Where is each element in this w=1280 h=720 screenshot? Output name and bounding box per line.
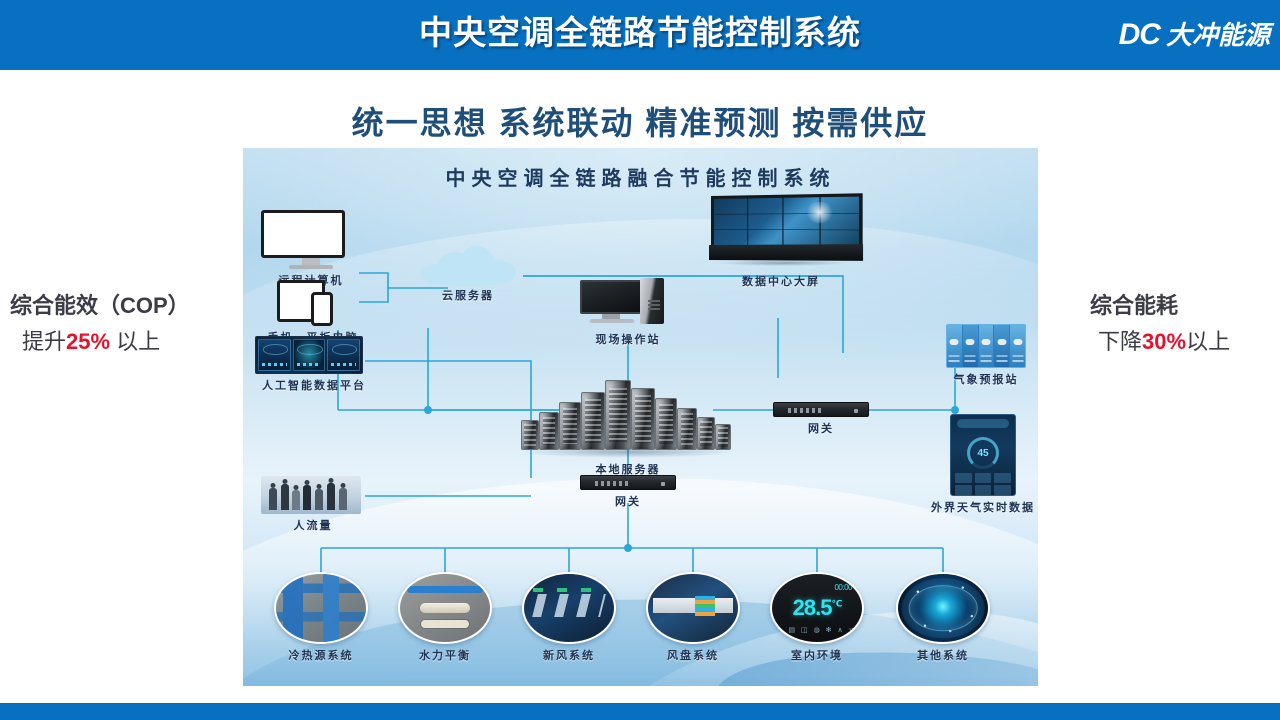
- node-label-field-workstation: 现场操作站: [580, 331, 676, 347]
- logo-mark: DC: [1119, 20, 1160, 50]
- weather-realtime-header: [957, 419, 1009, 428]
- video-wall-grid: [714, 197, 859, 248]
- forecast-day-3: [979, 325, 994, 367]
- monitor-neck: [302, 258, 320, 265]
- callout-cop-title: 综合能效（COP）: [10, 288, 190, 320]
- mobile-tablet-icon: [277, 280, 349, 326]
- forecast-day-2: [963, 325, 978, 367]
- brand-logo: DC 大冲能源: [1119, 14, 1270, 56]
- callout-cop: 综合能效（COP） 提升25% 以上: [10, 288, 190, 356]
- thermostat-temp-value: 28.5: [793, 595, 832, 620]
- node-weather-forecast-station: 气象预报站: [931, 324, 1038, 387]
- weather-realtime-row-2: [955, 485, 1011, 495]
- node-data-center-screen: 数据中心大屏: [705, 196, 857, 289]
- video-wall-glow: [804, 201, 833, 223]
- fan-coil-image: [646, 572, 740, 644]
- fresh-air-image: [522, 572, 616, 644]
- ai-panel-center: [293, 339, 326, 371]
- thermostat-temp-unit: ℃: [831, 599, 841, 609]
- ai-dashboard-icon: [255, 336, 363, 374]
- workstation-foot: [590, 319, 634, 323]
- video-wall-icon: [705, 196, 851, 270]
- forecast-day-1: [947, 325, 962, 367]
- subsystem-label-3: 风盘系统: [646, 647, 740, 663]
- callout-cop-value: 提升25% 以上: [10, 324, 190, 356]
- gateway-switch-icon-right: [773, 402, 869, 417]
- node-outdoor-weather-realtime: 45 外界天气实时数据: [903, 414, 1038, 515]
- node-label-weather-forecast-station: 气象预报站: [931, 371, 1038, 387]
- thermostat-temperature: 28.5℃: [793, 597, 842, 619]
- gateway-switch-icon-bottom: [580, 475, 676, 490]
- server-stack-icon: [513, 366, 743, 458]
- cloud-icon: [420, 244, 516, 284]
- subsystem-label-5: 其他系统: [896, 647, 990, 663]
- video-wall-shadow: [719, 260, 847, 266]
- monitor-icon: [261, 210, 345, 258]
- node-label-pedestrian-flow: 人流量: [261, 517, 365, 533]
- node-cloud-server: 云服务器: [403, 244, 533, 303]
- callout-energy-percent: 30%: [1142, 329, 1186, 354]
- node-pedestrian-flow: 人流量: [261, 476, 365, 533]
- subsystem-label-4: 室内环境: [770, 647, 864, 663]
- footer-bar: [0, 703, 1280, 720]
- thermostat-clock: 00:00: [834, 583, 852, 592]
- header-bar: 中央空调全链路节能控制系统 DC 大冲能源: [0, 0, 1280, 70]
- subsystem-cold-heat-source: 冷热源系统: [274, 572, 368, 663]
- subsystem-fresh-air: 新风系统: [522, 572, 616, 663]
- subtitle: 统一思想 系统联动 精准预测 按需供应: [0, 98, 1280, 144]
- forecast-day-5: [1010, 325, 1025, 367]
- thermostat-image: 00:00 28.5℃ ◔ ▤ ◫ ◍ ✻ ∧ ∨: [770, 572, 864, 644]
- subsystem-label-2: 新风系统: [522, 647, 616, 663]
- weather-realtime-icon: 45: [950, 414, 1016, 496]
- callout-energy-value: 下降30%以上: [1090, 324, 1230, 356]
- workstation-monitor: [580, 280, 642, 314]
- monitor-base: [289, 265, 333, 269]
- subsystem-indoor-environment: 00:00 28.5℃ ◔ ▤ ◫ ◍ ✻ ∧ ∨ 室内环境: [770, 572, 864, 663]
- node-label-data-center-screen: 数据中心大屏: [705, 273, 857, 289]
- subsystem-label-1: 水力平衡: [398, 647, 492, 663]
- node-label-gateway-right: 网关: [773, 420, 869, 436]
- video-wall-base: [709, 244, 863, 261]
- node-label-cloud-server: 云服务器: [403, 287, 533, 303]
- workstation-icon: [580, 278, 676, 328]
- node-label-gateway-bottom: 网关: [580, 493, 676, 509]
- video-wall-screen: [711, 193, 863, 251]
- ai-panel-right: [327, 339, 360, 371]
- slide-root: 中央空调全链路节能控制系统 DC 大冲能源 统一思想 系统联动 精准预测 按需供…: [0, 0, 1280, 720]
- forecast-day-4: [994, 325, 1009, 367]
- node-remote-computer: 远程计算机: [261, 210, 361, 288]
- weather-realtime-gauge: 45: [967, 437, 999, 469]
- subsystem-fan-coil: 风盘系统: [646, 572, 740, 663]
- logo-text: 大冲能源: [1166, 22, 1270, 48]
- callout-cop-prefix: 提升: [22, 329, 66, 354]
- node-label-outdoor-weather-realtime: 外界天气实时数据: [903, 499, 1038, 515]
- callout-cop-suffix: 以上: [110, 329, 160, 354]
- node-label-ai-data-platform: 人工智能数据平台: [255, 377, 373, 393]
- hydraulic-balance-image: [398, 572, 492, 644]
- workstation-tower: [640, 278, 664, 324]
- subsystem-label-0: 冷热源系统: [274, 647, 368, 663]
- page-title: 中央空调全链路节能控制系统: [0, 0, 1280, 70]
- node-ai-data-platform: 人工智能数据平台: [255, 336, 373, 393]
- phone-icon: [311, 292, 333, 326]
- architecture-diagram: 中央空调全链路融合节能控制系统: [243, 148, 1038, 686]
- subsystem-other: 其他系统: [896, 572, 990, 663]
- callout-energy-suffix: 以上: [1186, 329, 1230, 354]
- crowd-photo-icon: [261, 476, 361, 514]
- cold-heat-source-image: [274, 572, 368, 644]
- weather-realtime-row-1: [955, 473, 1011, 483]
- thermostat-button-row: ◔ ▤ ◫ ◍ ✻ ∧ ∨: [772, 626, 862, 634]
- callout-energy-title: 综合能耗: [1090, 288, 1230, 320]
- weather-forecast-icon: [946, 324, 1026, 368]
- subsystem-hydraulic-balance: 水力平衡: [398, 572, 492, 663]
- other-systems-image: [896, 572, 990, 644]
- node-gateway-bottom: 网关: [580, 475, 676, 509]
- node-gateway-right: 网关: [773, 402, 869, 436]
- callout-energy-prefix: 下降: [1098, 329, 1142, 354]
- callout-energy: 综合能耗 下降30%以上: [1090, 288, 1230, 356]
- node-field-workstation: 现场操作站: [580, 278, 676, 347]
- node-local-server: 本地服务器: [513, 366, 743, 477]
- callout-cop-percent: 25%: [66, 329, 110, 354]
- ai-panel-left: [258, 339, 291, 371]
